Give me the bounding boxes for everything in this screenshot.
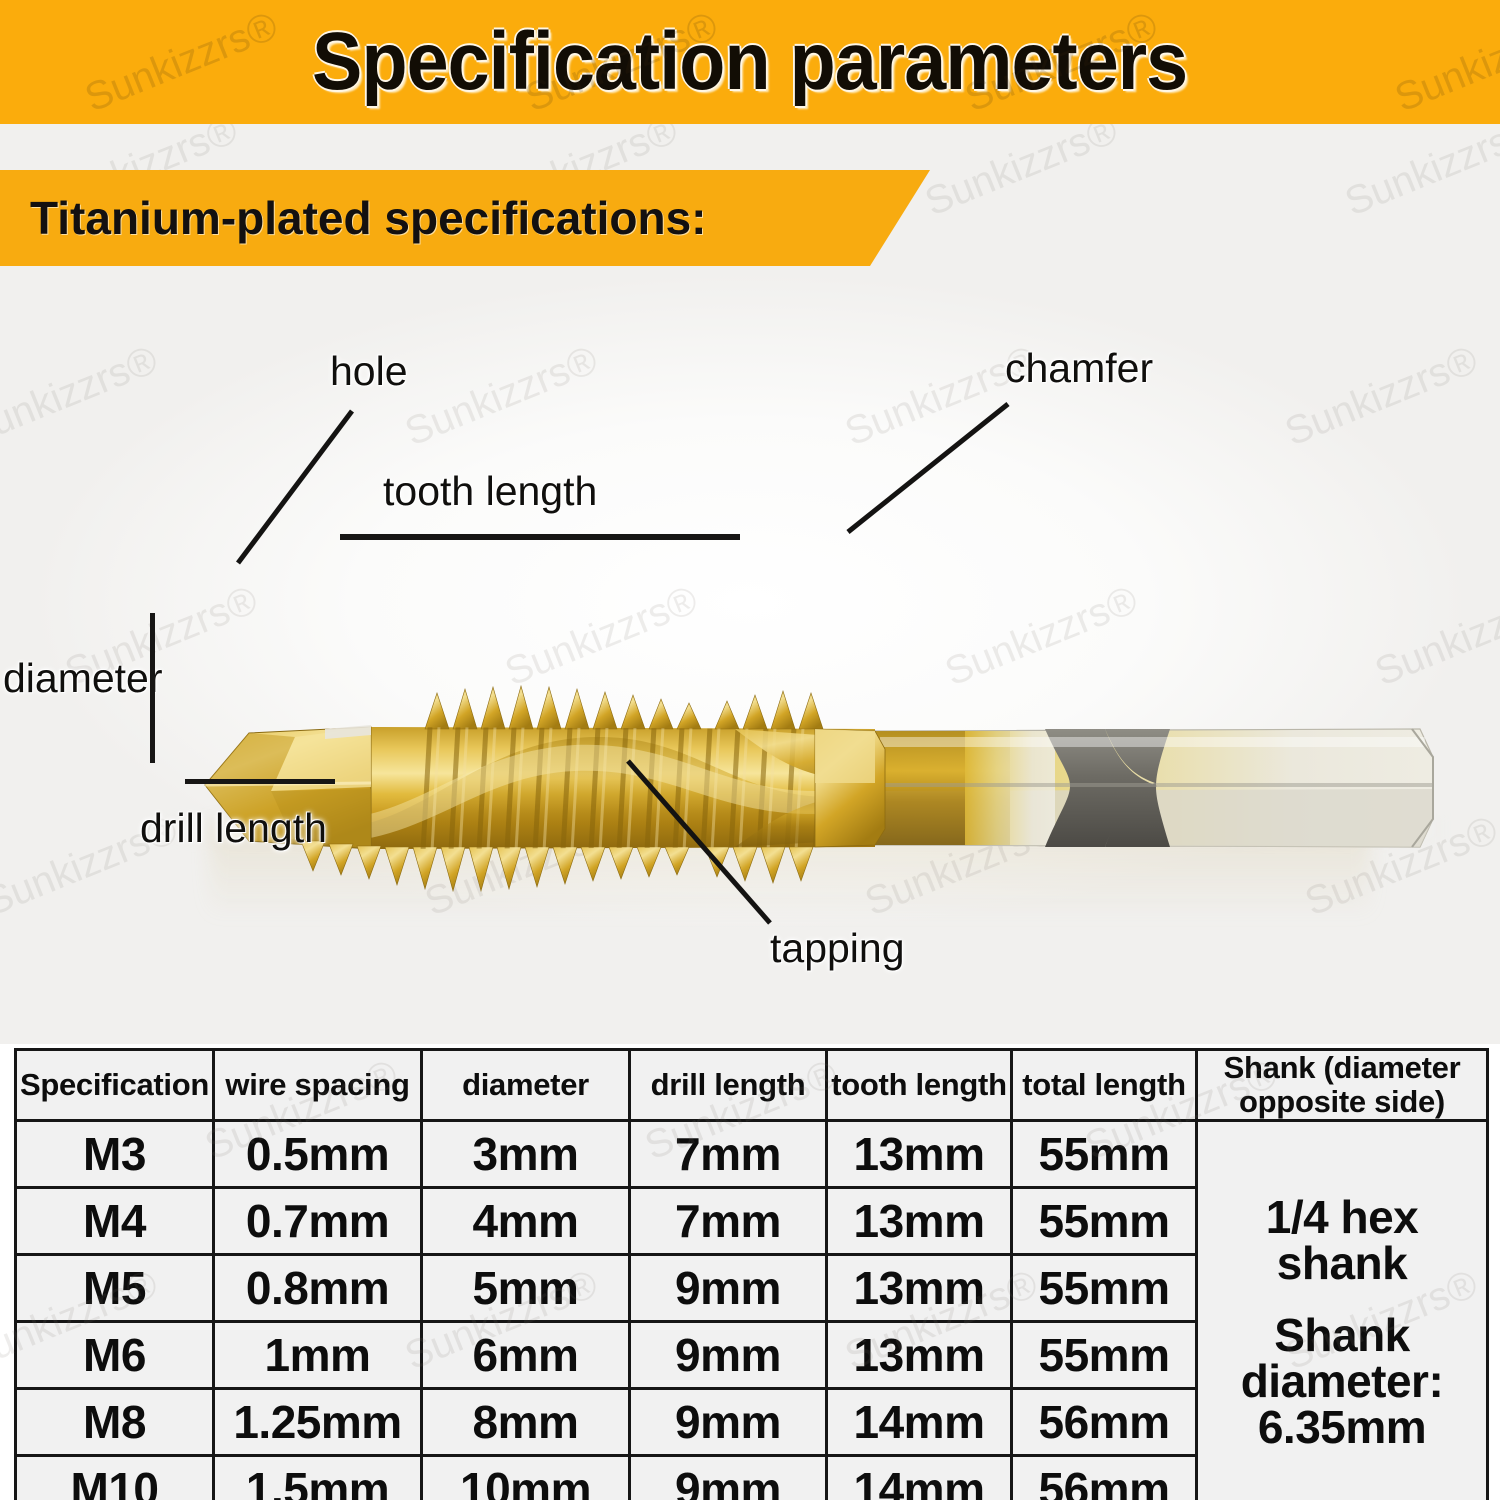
label-tooth-length: tooth length (383, 468, 597, 515)
label-chamfer: chamfer (1005, 345, 1153, 392)
label-drill-length: drill length (140, 805, 327, 852)
measure-bar-tooth-length (340, 534, 740, 540)
leader-line-hole (230, 405, 360, 570)
label-hole: hole (330, 348, 408, 395)
leader-line-tapping (620, 755, 780, 930)
diagram-annotation-layer: hole tooth length chamfer diameter drill… (0, 0, 1500, 1500)
label-tapping: tapping (770, 925, 905, 972)
measure-bar-diameter (150, 613, 155, 763)
product-spec-page: Sunkizzrs® Sunkizzrs® Sunkizzrs® Sunkizz… (0, 0, 1500, 1500)
label-diameter: diameter (3, 655, 163, 702)
measure-bar-drill-length (185, 779, 335, 784)
leader-line-chamfer (840, 398, 1015, 538)
